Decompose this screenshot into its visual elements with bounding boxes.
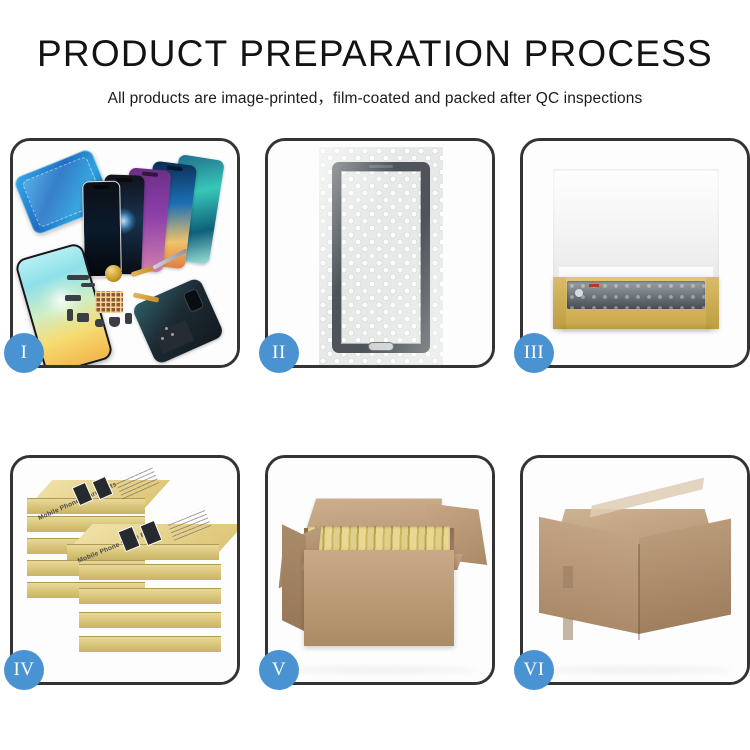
step-badge-3: III (514, 333, 554, 373)
product-preparation-infographic: PRODUCT PREPARATION PROCESS All products… (0, 0, 750, 750)
bubble-wrapped-screen (319, 147, 443, 365)
step-panel-3[interactable]: III (520, 138, 750, 368)
step-badge-5: V (259, 650, 299, 690)
phone-lineup (83, 155, 233, 280)
step-panel-5[interactable]: V (265, 455, 495, 685)
step-2-image (268, 141, 492, 365)
step-1-image (13, 141, 237, 365)
page-subtitle: All products are image-printed，film-coat… (0, 86, 750, 108)
step-panel-4[interactable]: Mobile Phone Spare Parts (10, 455, 240, 685)
step-4-image: Mobile Phone Spare Parts (13, 458, 237, 682)
step-3-image (523, 141, 747, 365)
open-carton (282, 492, 478, 654)
step-badge-4: IV (4, 650, 44, 690)
step-panel-1[interactable]: I (10, 138, 240, 368)
page-title: PRODUCT PREPARATION PROCESS (0, 35, 750, 74)
step-badge-6: VI (514, 650, 554, 690)
sealed-carton (539, 486, 731, 658)
step-badge-1: I (4, 333, 44, 373)
step-panel-2[interactable]: II (265, 138, 495, 368)
step-panel-6[interactable]: VI (520, 455, 750, 685)
step-5-image (268, 458, 492, 682)
inner-box-open (547, 159, 725, 337)
box-stack: Mobile Phone Spare Parts (23, 472, 229, 670)
spare-parts-group (73, 269, 183, 349)
header: PRODUCT PREPARATION PROCESS All products… (0, 0, 750, 108)
step-badge-2: II (259, 333, 299, 373)
step-6-image (523, 458, 747, 682)
steps-grid: I II (10, 138, 740, 693)
